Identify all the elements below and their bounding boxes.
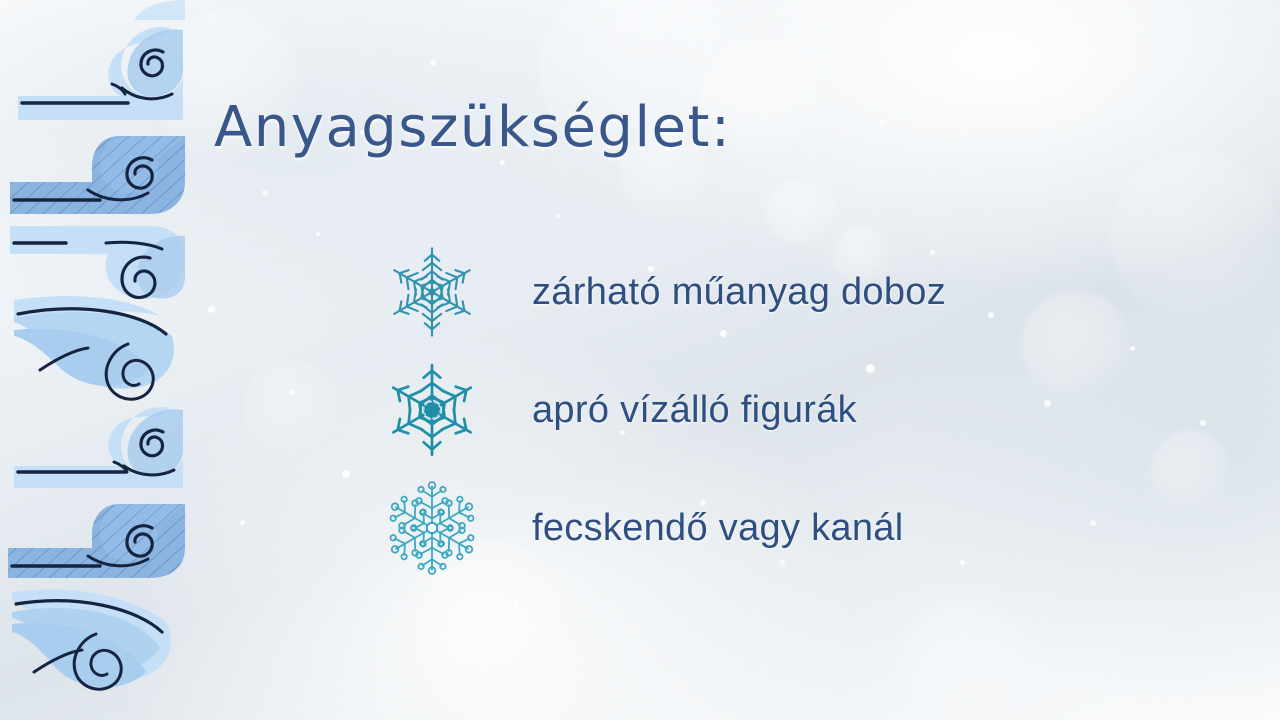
snowflake-icon	[380, 358, 484, 462]
slide-canvas: Anyagszükséglet:	[0, 0, 1280, 720]
wind-sweep-motif	[14, 296, 174, 399]
wind-gust-motif	[14, 407, 183, 488]
list-item-label: zárható műanyag doboz	[532, 271, 946, 314]
snowflake-icon	[380, 476, 484, 580]
list-item-label: fecskendő vagy kanál	[532, 507, 903, 550]
wind-gust-motif	[134, 0, 185, 20]
list-item: fecskendő vagy kanál	[380, 469, 1140, 587]
list-item-label: apró vízálló figurák	[532, 389, 857, 432]
wind-sweep-motif	[12, 590, 171, 690]
materials-list: zárható műanyag doboz	[380, 233, 1140, 587]
decorative-wind-border	[0, 0, 185, 720]
wind-swirl-illustration	[0, 0, 185, 720]
page-title: Anyagszükséglet:	[214, 95, 731, 160]
striped-gust-motif	[10, 136, 185, 214]
striped-gust-motif	[8, 504, 185, 578]
spiral-swirl-motif	[10, 226, 185, 299]
list-item: zárható műanyag doboz	[380, 233, 1140, 351]
list-item: apró vízálló figurák	[380, 351, 1140, 469]
snowflake-icon	[380, 240, 484, 344]
wind-gust-motif	[18, 27, 183, 120]
